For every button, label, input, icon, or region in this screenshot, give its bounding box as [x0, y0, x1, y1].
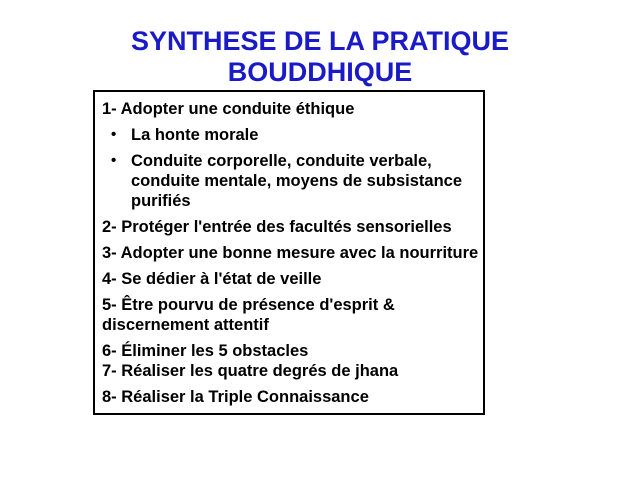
list-item-8: 8- Réaliser la Triple Connaissance — [102, 388, 480, 407]
list-item-bullet-1-label: La honte morale — [131, 125, 480, 145]
slide-canvas: SYNTHESE DE LA PRATIQUE BOUDDHIQUE 1- Ad… — [0, 0, 640, 480]
practice-list: 1- Adopter une conduite éthique • La hon… — [102, 94, 480, 415]
page-title: SYNTHESE DE LA PRATIQUE BOUDDHIQUE — [40, 26, 600, 88]
title-line-2: BOUDDHIQUE — [40, 57, 600, 88]
list-item-6: 6- Éliminer les 5 obstacles — [102, 342, 480, 361]
title-line-1: SYNTHESE DE LA PRATIQUE — [40, 26, 600, 57]
list-item-5-continuation: discernement attentif — [102, 316, 480, 335]
list-item-bullet-1: • La honte morale — [102, 125, 480, 145]
content-box: 1- Adopter une conduite éthique • La hon… — [93, 90, 485, 415]
list-item-bullet-2: • Conduite corporelle, conduite verbale,… — [102, 151, 480, 211]
bullet-icon: • — [111, 151, 116, 170]
list-item-3: 3- Adopter une bonne mesure avec la nour… — [102, 244, 480, 263]
list-item-9: 9- Atteindre l’état d’Arahant — [102, 414, 480, 415]
list-item-5: 5- Être pourvu de présence d'esprit & — [102, 296, 480, 315]
bullet-icon: • — [111, 125, 116, 144]
list-item-bullet-2-label: Conduite corporelle, conduite verbale, c… — [131, 151, 480, 211]
list-item-7: 7- Réaliser les quatre degrés de jhana — [102, 362, 480, 381]
list-item-1: 1- Adopter une conduite éthique — [102, 100, 480, 119]
list-item-4: 4- Se dédier à l'état de veille — [102, 270, 480, 289]
list-item-2: 2- Protéger l'entrée des facultés sensor… — [102, 218, 480, 237]
